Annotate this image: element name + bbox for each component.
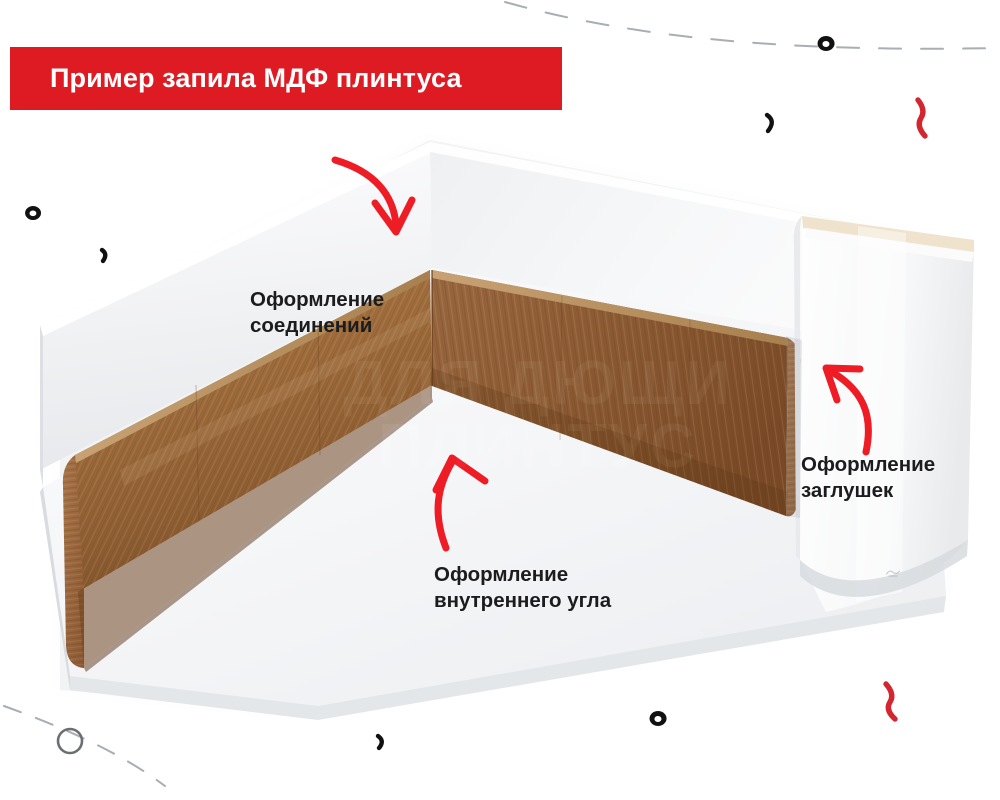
- title-banner: Пример запила МДФ плинтуса: [10, 47, 562, 110]
- product-photo: [0, 0, 1000, 800]
- annotation-label-joint: Оформление соединений: [250, 287, 384, 339]
- annotation-label-inner-corner: Оформление внутреннего угла: [434, 562, 611, 614]
- banner-title-text: Пример запила МДФ плинтуса: [50, 63, 462, 94]
- cap-contact-shadow: [786, 336, 802, 518]
- corner-logo-mark: [884, 566, 902, 580]
- annotation-label-end-cap: Оформление заглушек: [801, 452, 935, 504]
- end-cap-panel: [794, 216, 974, 612]
- image-canvas: ДЛЯ ДЮЩИ ПЛИНТУС Пример запила МДФ плинт…: [0, 0, 1000, 800]
